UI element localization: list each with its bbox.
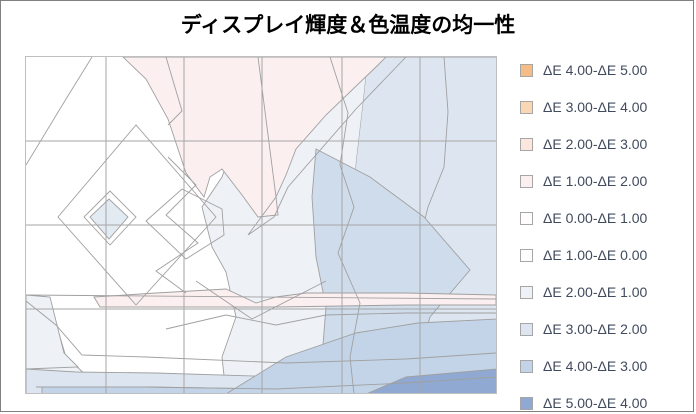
legend-label-4: ΔE 0.00-ΔE 1.00 (543, 211, 647, 225)
chart-title: ディスプレイ輝度＆色温度の均一性 (1, 9, 695, 39)
legend-label-8: ΔE 4.00-ΔE 3.00 (543, 359, 647, 373)
legend-label-2: ΔE 2.00-ΔE 3.00 (543, 137, 647, 151)
legend-swatch-icon-1 (520, 101, 533, 114)
legend-item-9[interactable]: ΔE 5.00-ΔE 4.00 (520, 394, 647, 412)
legend-label-1: ΔE 3.00-ΔE 4.00 (543, 100, 647, 114)
legend-item-2[interactable]: ΔE 2.00-ΔE 3.00 (520, 135, 647, 153)
legend-item-5[interactable]: ΔE 1.00-ΔE 0.00 (520, 246, 647, 264)
legend-item-4[interactable]: ΔE 0.00-ΔE 1.00 (520, 209, 647, 227)
legend-swatch-icon-9 (520, 397, 533, 410)
legend-swatch-icon-3 (520, 175, 533, 188)
legend-label-0: ΔE 4.00-ΔE 5.00 (543, 63, 647, 77)
legend: ΔE 4.00-ΔE 5.00 ΔE 3.00-ΔE 4.00 ΔE 2.00-… (520, 61, 692, 397)
legend-swatch-icon-5 (520, 249, 533, 262)
legend-label-3: ΔE 1.00-ΔE 2.00 (543, 174, 647, 188)
legend-item-7[interactable]: ΔE 3.00-ΔE 2.00 (520, 320, 647, 338)
contour-band-n1to-n2-left (26, 295, 78, 369)
legend-item-1[interactable]: ΔE 3.00-ΔE 4.00 (520, 98, 647, 116)
legend-label-7: ΔE 3.00-ΔE 2.00 (543, 322, 647, 336)
legend-item-6[interactable]: ΔE 2.00-ΔE 1.00 (520, 283, 647, 301)
contour-plot (26, 57, 497, 394)
plot-area (25, 56, 497, 394)
legend-label-5: ΔE 1.00-ΔE 0.00 (543, 248, 647, 262)
contour-line-upper-left-diagonal (26, 57, 92, 165)
legend-swatch-icon-0 (520, 64, 533, 77)
legend-swatch-icon-4 (520, 212, 533, 225)
legend-item-0[interactable]: ΔE 4.00-ΔE 5.00 (520, 61, 647, 79)
legend-label-9: ΔE 5.00-ΔE 4.00 (543, 396, 647, 410)
legend-item-3[interactable]: ΔE 1.00-ΔE 2.00 (520, 172, 647, 190)
chart-frame: ディスプレイ輝度＆色温度の均一性 (0, 0, 694, 412)
legend-swatch-icon-2 (520, 138, 533, 151)
legend-swatch-icon-7 (520, 323, 533, 336)
legend-swatch-icon-8 (520, 360, 533, 373)
legend-swatch-icon-6 (520, 286, 533, 299)
legend-label-6: ΔE 2.00-ΔE 1.00 (543, 285, 647, 299)
legend-item-8[interactable]: ΔE 4.00-ΔE 3.00 (520, 357, 647, 375)
